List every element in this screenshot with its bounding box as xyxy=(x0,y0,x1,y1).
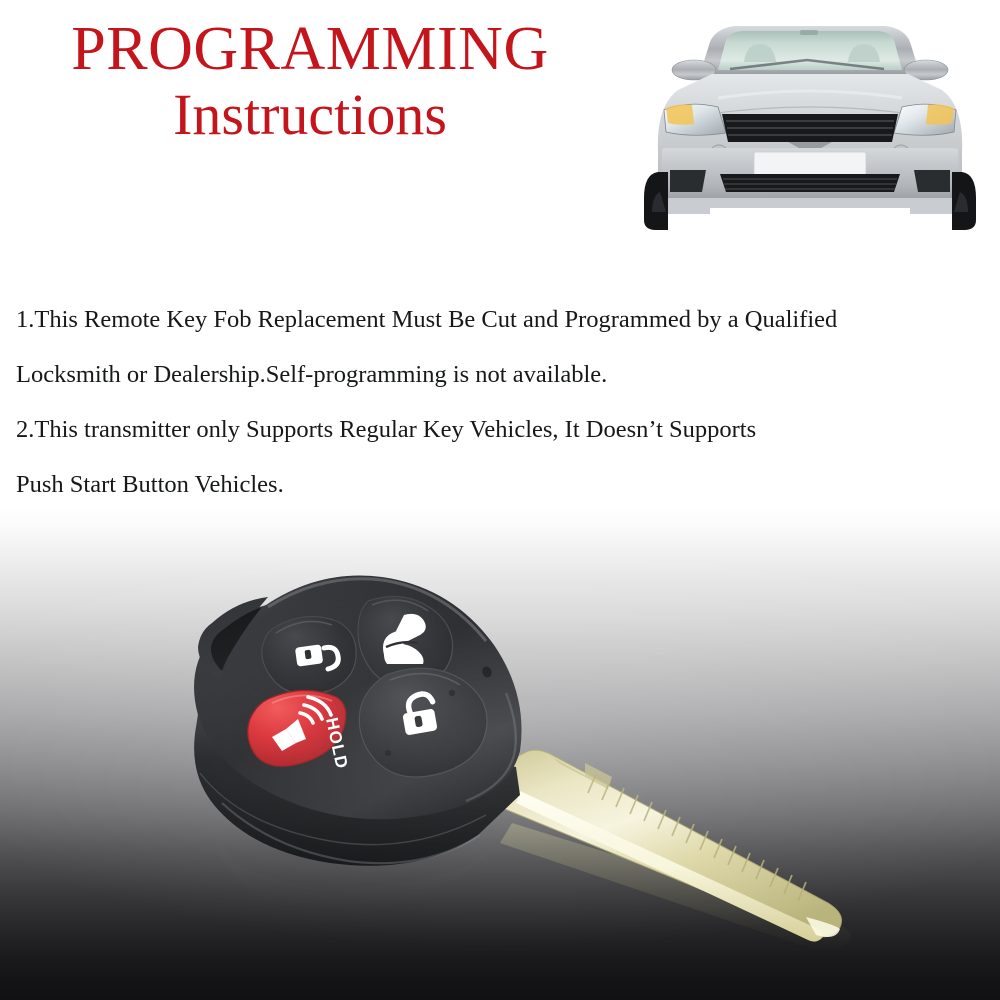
title-line-instructions: Instructions xyxy=(0,86,620,144)
title-line-programming: PROGRAMMING xyxy=(0,18,620,80)
lock-button[interactable] xyxy=(359,668,487,777)
panic-button[interactable]: HOLD xyxy=(248,690,352,770)
instruction-line-1: 1.This Remote Key Fob Replacement Must B… xyxy=(16,292,976,347)
instruction-line-3: 2.This transmitter only Supports Regular… xyxy=(16,402,976,457)
instruction-line-4: Push Start Button Vehicles. xyxy=(16,457,976,512)
instruction-sheet: PROGRAMMING Instructions xyxy=(0,0,1000,1000)
key-fob-illustration: HOLD xyxy=(0,505,1000,1000)
instruction-text: 1.This Remote Key Fob Replacement Must B… xyxy=(16,292,976,512)
key-fob-stage: HOLD xyxy=(0,505,1000,1000)
car-photo xyxy=(622,2,998,252)
key-fob-photo-panel: HOLD xyxy=(0,505,1000,1000)
unlock-button[interactable] xyxy=(262,617,356,695)
page-title: PROGRAMMING Instructions xyxy=(0,18,620,144)
instruction-line-2: Locksmith or Dealership.Self-programming… xyxy=(16,347,976,402)
car-front-illustration xyxy=(622,2,998,252)
top-white-panel: PROGRAMMING Instructions xyxy=(0,0,1000,524)
